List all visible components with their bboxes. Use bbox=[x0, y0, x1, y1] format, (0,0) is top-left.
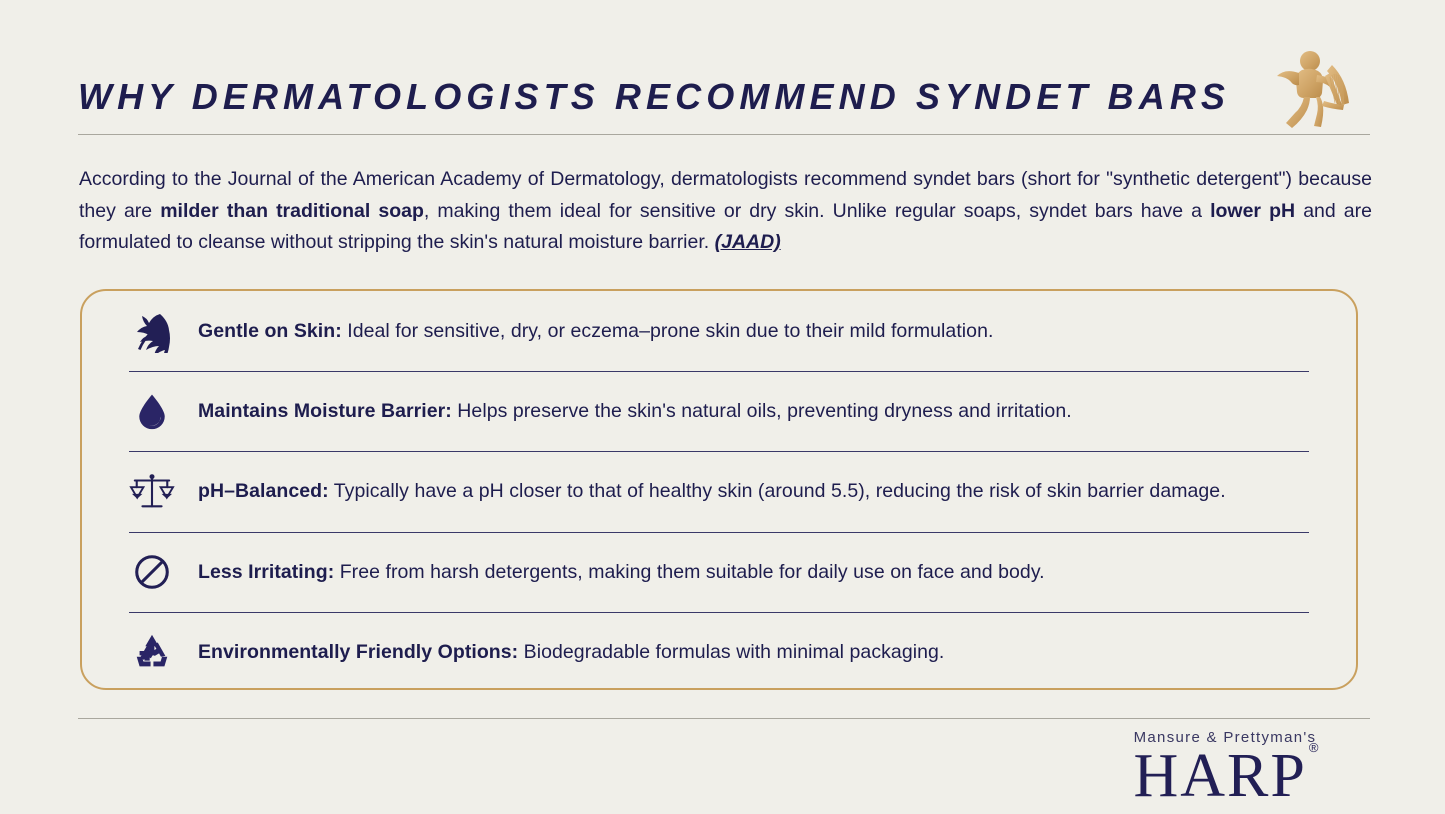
benefit-description: Typically have a pH closer to that of he… bbox=[329, 480, 1226, 502]
infographic-page: WHY DERMATOLOGISTS RECOMMEND SYNDET BARS bbox=[0, 0, 1445, 814]
benefit-label: Less Irritating: bbox=[198, 561, 334, 583]
registered-trademark-icon: ® bbox=[1309, 740, 1319, 755]
footer-wordmark-text: HARP bbox=[1134, 742, 1307, 810]
leaf-icon bbox=[124, 309, 180, 353]
benefit-label: pH–Balanced: bbox=[198, 480, 329, 502]
list-item: Environmentally Friendly Options: Biodeg… bbox=[116, 612, 1322, 692]
footer-wordmark: HARP® bbox=[1134, 747, 1317, 806]
benefit-description: Free from harsh detergents, making them … bbox=[334, 561, 1044, 583]
benefit-text: Gentle on Skin: Ideal for sensitive, dry… bbox=[198, 318, 993, 344]
header-divider bbox=[78, 134, 1370, 135]
cherub-with-harp-icon bbox=[1272, 45, 1368, 133]
header: WHY DERMATOLOGISTS RECOMMEND SYNDET BARS bbox=[78, 58, 1370, 136]
jaad-citation-link[interactable]: (JAAD) bbox=[715, 231, 781, 253]
benefit-text: Maintains Moisture Barrier: Helps preser… bbox=[198, 398, 1072, 424]
benefit-label: Environmentally Friendly Options: bbox=[198, 641, 518, 663]
benefit-description: Ideal for sensitive, dry, or eczema–pron… bbox=[342, 320, 994, 342]
prohibition-icon bbox=[124, 550, 180, 594]
benefit-text: Environmentally Friendly Options: Biodeg… bbox=[198, 639, 944, 665]
intro-paragraph: According to the Journal of the American… bbox=[79, 164, 1372, 259]
footer-logo: Mansure & Prettyman's HARP® bbox=[1075, 730, 1375, 806]
intro-bold-2: lower pH bbox=[1210, 200, 1295, 222]
water-droplet-icon bbox=[124, 389, 180, 433]
page-title: WHY DERMATOLOGISTS RECOMMEND SYNDET BARS bbox=[78, 79, 1230, 115]
list-item: Maintains Moisture Barrier: Helps preser… bbox=[116, 371, 1322, 451]
benefit-label: Maintains Moisture Barrier: bbox=[198, 400, 452, 422]
benefit-description: Helps preserve the skin's natural oils, … bbox=[452, 400, 1072, 422]
recycle-icon bbox=[124, 630, 180, 674]
intro-bold-1: milder than traditional soap bbox=[160, 200, 424, 222]
intro-text-part-2: , making them ideal for sensitive or dry… bbox=[424, 200, 1210, 222]
benefit-text: Less Irritating: Free from harsh deterge… bbox=[198, 559, 1045, 585]
benefits-card: Gentle on Skin: Ideal for sensitive, dry… bbox=[80, 289, 1358, 690]
balance-scale-icon bbox=[124, 469, 180, 513]
benefit-description: Biodegradable formulas with minimal pack… bbox=[518, 641, 944, 663]
list-item: Less Irritating: Free from harsh deterge… bbox=[116, 532, 1322, 612]
benefit-label: Gentle on Skin: bbox=[198, 320, 342, 342]
list-item: pH–Balanced: Typically have a pH closer … bbox=[116, 451, 1322, 531]
benefits-list: Gentle on Skin: Ideal for sensitive, dry… bbox=[116, 291, 1322, 688]
list-item: Gentle on Skin: Ideal for sensitive, dry… bbox=[116, 291, 1322, 371]
benefit-text: pH–Balanced: Typically have a pH closer … bbox=[198, 478, 1226, 504]
footer-divider bbox=[78, 718, 1370, 719]
